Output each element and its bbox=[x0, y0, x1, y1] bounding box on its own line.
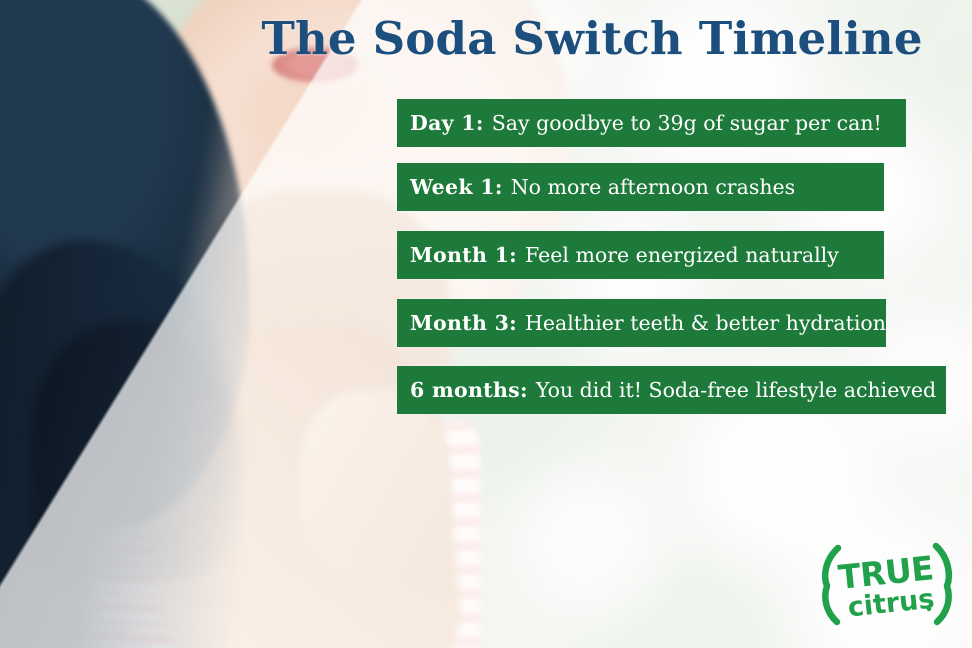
timeline-item-text: You did it! Soda-free lifestyle achieved bbox=[536, 380, 936, 401]
timeline-item-label: Month 1: bbox=[410, 245, 517, 266]
logo-right-bracket-icon bbox=[936, 546, 949, 622]
logo-registered-mark-icon bbox=[927, 607, 931, 611]
timeline-item-week-1[interactable]: Week 1: No more afternoon crashes bbox=[397, 163, 884, 211]
timeline-item-month-3[interactable]: Month 3: Healthier teeth & better hydrat… bbox=[397, 299, 886, 347]
timeline-item-6-months[interactable]: 6 months: You did it! Soda-free lifestyl… bbox=[397, 366, 946, 414]
timeline-item-day-1[interactable]: Day 1: Say goodbye to 39g of sugar per c… bbox=[397, 99, 906, 147]
timeline-item-label: 6 months: bbox=[410, 380, 528, 401]
true-citrus-logo[interactable]: TRUE citrus bbox=[812, 536, 962, 632]
poster-canvas: The Soda Switch Timeline Day 1: Say good… bbox=[0, 0, 972, 648]
timeline-item-label: Month 3: bbox=[410, 313, 517, 334]
timeline-item-label: Day 1: bbox=[410, 113, 484, 134]
timeline-item-text: Feel more energized naturally bbox=[525, 245, 839, 266]
timeline-item-label: Week 1: bbox=[410, 177, 503, 198]
timeline-item-text: No more afternoon crashes bbox=[511, 177, 796, 198]
timeline-item-text: Say goodbye to 39g of sugar per can! bbox=[492, 113, 882, 134]
timeline-item-month-1[interactable]: Month 1: Feel more energized naturally bbox=[397, 231, 884, 279]
timeline-item-text: Healthier teeth & better hydration bbox=[525, 313, 886, 334]
